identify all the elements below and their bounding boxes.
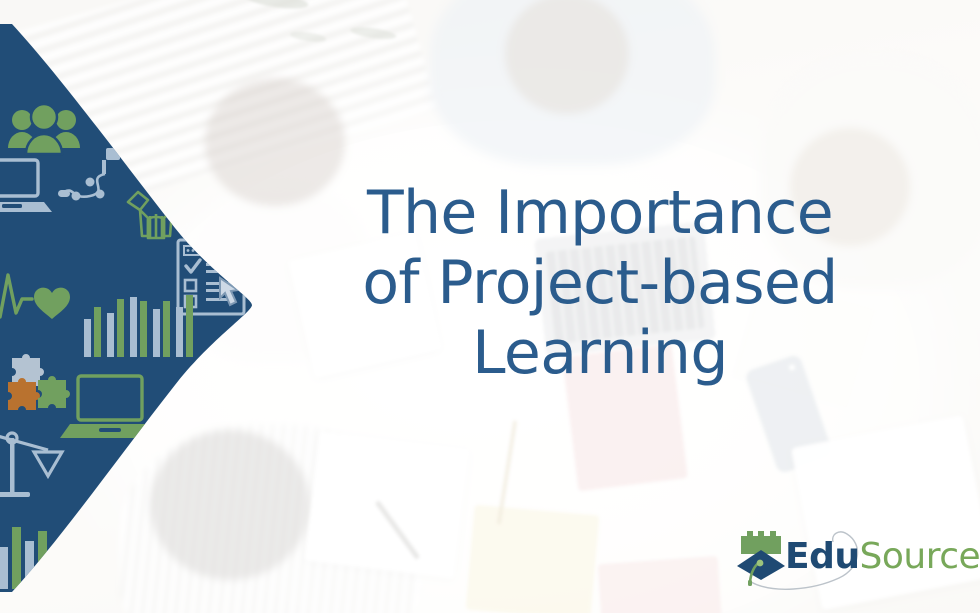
people-group-icon bbox=[8, 104, 80, 154]
edusourced-logo[interactable]: EduSourced bbox=[733, 528, 933, 590]
blog-header-banner: The Importance of Project-based Learning… bbox=[0, 0, 980, 613]
navy-shape bbox=[0, 0, 300, 613]
logo-sourced-text: Sourced bbox=[860, 536, 980, 577]
navy-chevron-panel bbox=[0, 0, 300, 613]
graduation-cap-icon bbox=[733, 530, 789, 586]
logo-edu-text: Edu bbox=[785, 536, 860, 577]
logo-wordmark: EduSourced bbox=[785, 532, 980, 582]
page-title: The Importance of Project-based Learning bbox=[280, 178, 920, 389]
